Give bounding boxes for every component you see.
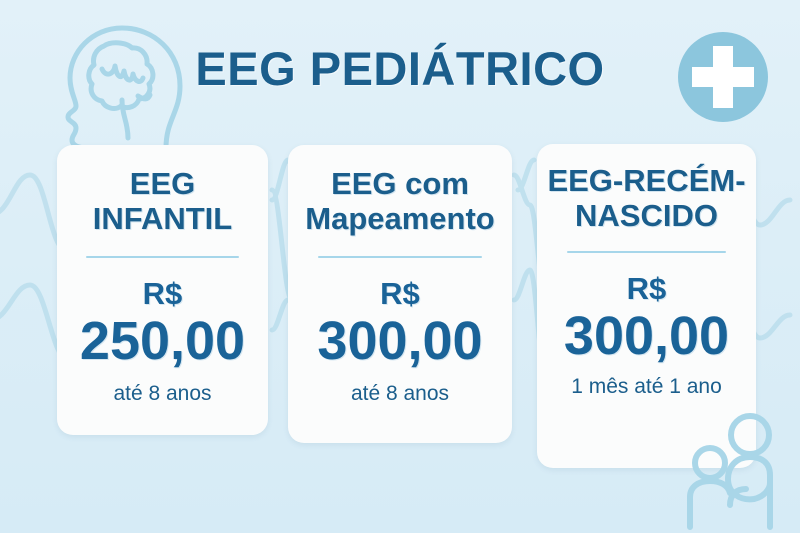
mother-child-icon (674, 413, 794, 531)
age-range: até 8 anos (298, 382, 502, 406)
card-title: EEG INFANTIL (67, 167, 258, 236)
poster-root: EEG PEDIÁTRICO EEG INFANTIL R$ 250,00 at… (0, 0, 800, 533)
price-amount: 300,00 (298, 314, 502, 368)
price-card-eeg-mapeamento[interactable]: EEG com Mapeamento R$ 300,00 até 8 anos (288, 145, 512, 443)
price-card-eeg-infantil[interactable]: EEG INFANTIL R$ 250,00 até 8 anos (57, 145, 268, 435)
card-title: EEG-RECÉM-NASCIDO (547, 164, 746, 233)
currency-symbol: R$ (547, 271, 746, 307)
age-range: até 8 anos (67, 382, 258, 406)
card-title: EEG com Mapeamento (298, 167, 502, 236)
card-divider (86, 256, 239, 258)
currency-symbol: R$ (67, 276, 258, 312)
card-divider (318, 256, 481, 258)
price-amount: 300,00 (547, 309, 746, 363)
age-range: 1 mês até 1 ano (547, 375, 746, 399)
currency-symbol: R$ (298, 276, 502, 312)
card-divider (567, 251, 726, 253)
price-amount: 250,00 (67, 314, 258, 368)
